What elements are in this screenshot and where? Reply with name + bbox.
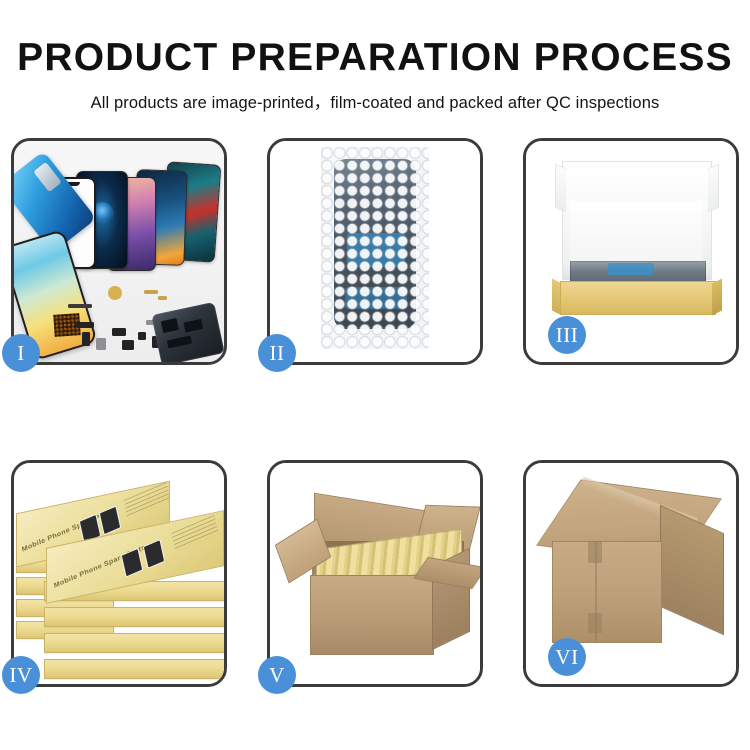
page-subtitle: All products are image-printed，film-coat… — [0, 80, 750, 113]
sensor-part — [138, 332, 146, 340]
step-badge-5: V — [258, 656, 296, 694]
step-image-bubble-wrap — [270, 141, 480, 362]
product-preparation-infographic: PRODUCT PREPARATION PROCESS All products… — [0, 0, 750, 750]
step-panel-2: II — [267, 138, 483, 365]
step-panel-1: I — [11, 138, 227, 365]
carton-seam-top — [588, 541, 602, 563]
step-badge-1: I — [2, 334, 40, 372]
button-part — [158, 296, 167, 300]
chip-icon — [167, 336, 192, 349]
connector-part — [82, 332, 90, 346]
speaker-part — [108, 286, 122, 300]
box-stack: Mobile Phone Spare Parts Mobile Phone Sp… — [16, 477, 224, 675]
step-panel-6: VI — [523, 460, 739, 687]
carton-front-face — [310, 575, 434, 655]
step-panel-3: III — [523, 138, 739, 365]
step-badge-6: VI — [548, 638, 586, 676]
process-steps-grid: I II III — [11, 138, 739, 687]
connector-part — [76, 322, 94, 328]
printed-screen-graphic — [143, 539, 166, 569]
chip-icon — [161, 318, 179, 333]
header: PRODUCT PREPARATION PROCESS All products… — [0, 0, 750, 113]
box-tray-right-side — [712, 279, 722, 316]
chip-icon — [184, 319, 204, 333]
flex-cable-part — [68, 304, 92, 308]
page-title: PRODUCT PREPARATION PROCESS — [0, 0, 750, 80]
stacked-box — [44, 607, 224, 627]
button-part — [144, 290, 158, 294]
stacked-box — [44, 633, 224, 653]
camera-part — [112, 328, 126, 336]
printed-spec-lines — [171, 515, 218, 552]
carton-seam-bottom — [588, 613, 602, 633]
step-panel-4: Mobile Phone Spare Parts Mobile Phone Sp… — [11, 460, 227, 687]
stacked-box — [44, 659, 224, 679]
step-badge-2: II — [258, 334, 296, 372]
carton-side-face — [660, 505, 724, 635]
step-image-products — [14, 141, 224, 362]
step-image-carton-filling — [270, 463, 480, 684]
step-panel-5: V — [267, 460, 483, 687]
carton-front-face — [552, 541, 662, 643]
bubble-texture — [321, 147, 429, 349]
bracket-part — [96, 338, 106, 350]
mailer-box-tray — [560, 281, 716, 315]
step-badge-4: IV — [2, 656, 40, 694]
printed-spec-lines — [123, 482, 170, 519]
step-badge-3: III — [548, 316, 586, 354]
printed-screen-graphic — [99, 505, 122, 535]
step-image-box-stack: Mobile Phone Spare Parts Mobile Phone Sp… — [14, 463, 224, 684]
vibrator-part — [122, 340, 134, 350]
